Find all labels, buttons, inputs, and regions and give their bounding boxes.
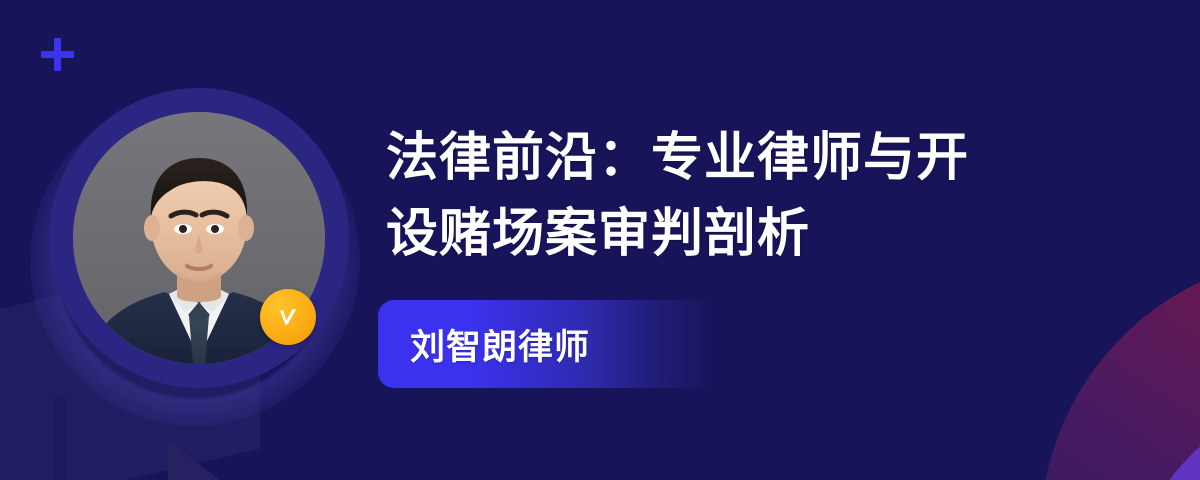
author-name-label: 刘智朗律师 <box>378 319 590 370</box>
avatar[interactable] <box>49 88 349 388</box>
headline-block: 法律前沿：专业律师与开 设赌场案审判剖析 <box>386 120 1076 272</box>
plus-icon <box>41 38 74 71</box>
lawyer-article-banner: 法律前沿：专业律师与开 设赌场案审判剖析 刘智朗律师 <box>0 0 1200 480</box>
crimson-gradient-circle <box>1040 255 1200 480</box>
background-wedge-divider <box>54 398 66 480</box>
verified-badge-icon <box>260 289 316 345</box>
page-title: 法律前沿：专业律师与开 设赌场案审判剖析 <box>386 120 1076 272</box>
author-name-chip[interactable]: 刘智朗律师 <box>378 300 716 388</box>
